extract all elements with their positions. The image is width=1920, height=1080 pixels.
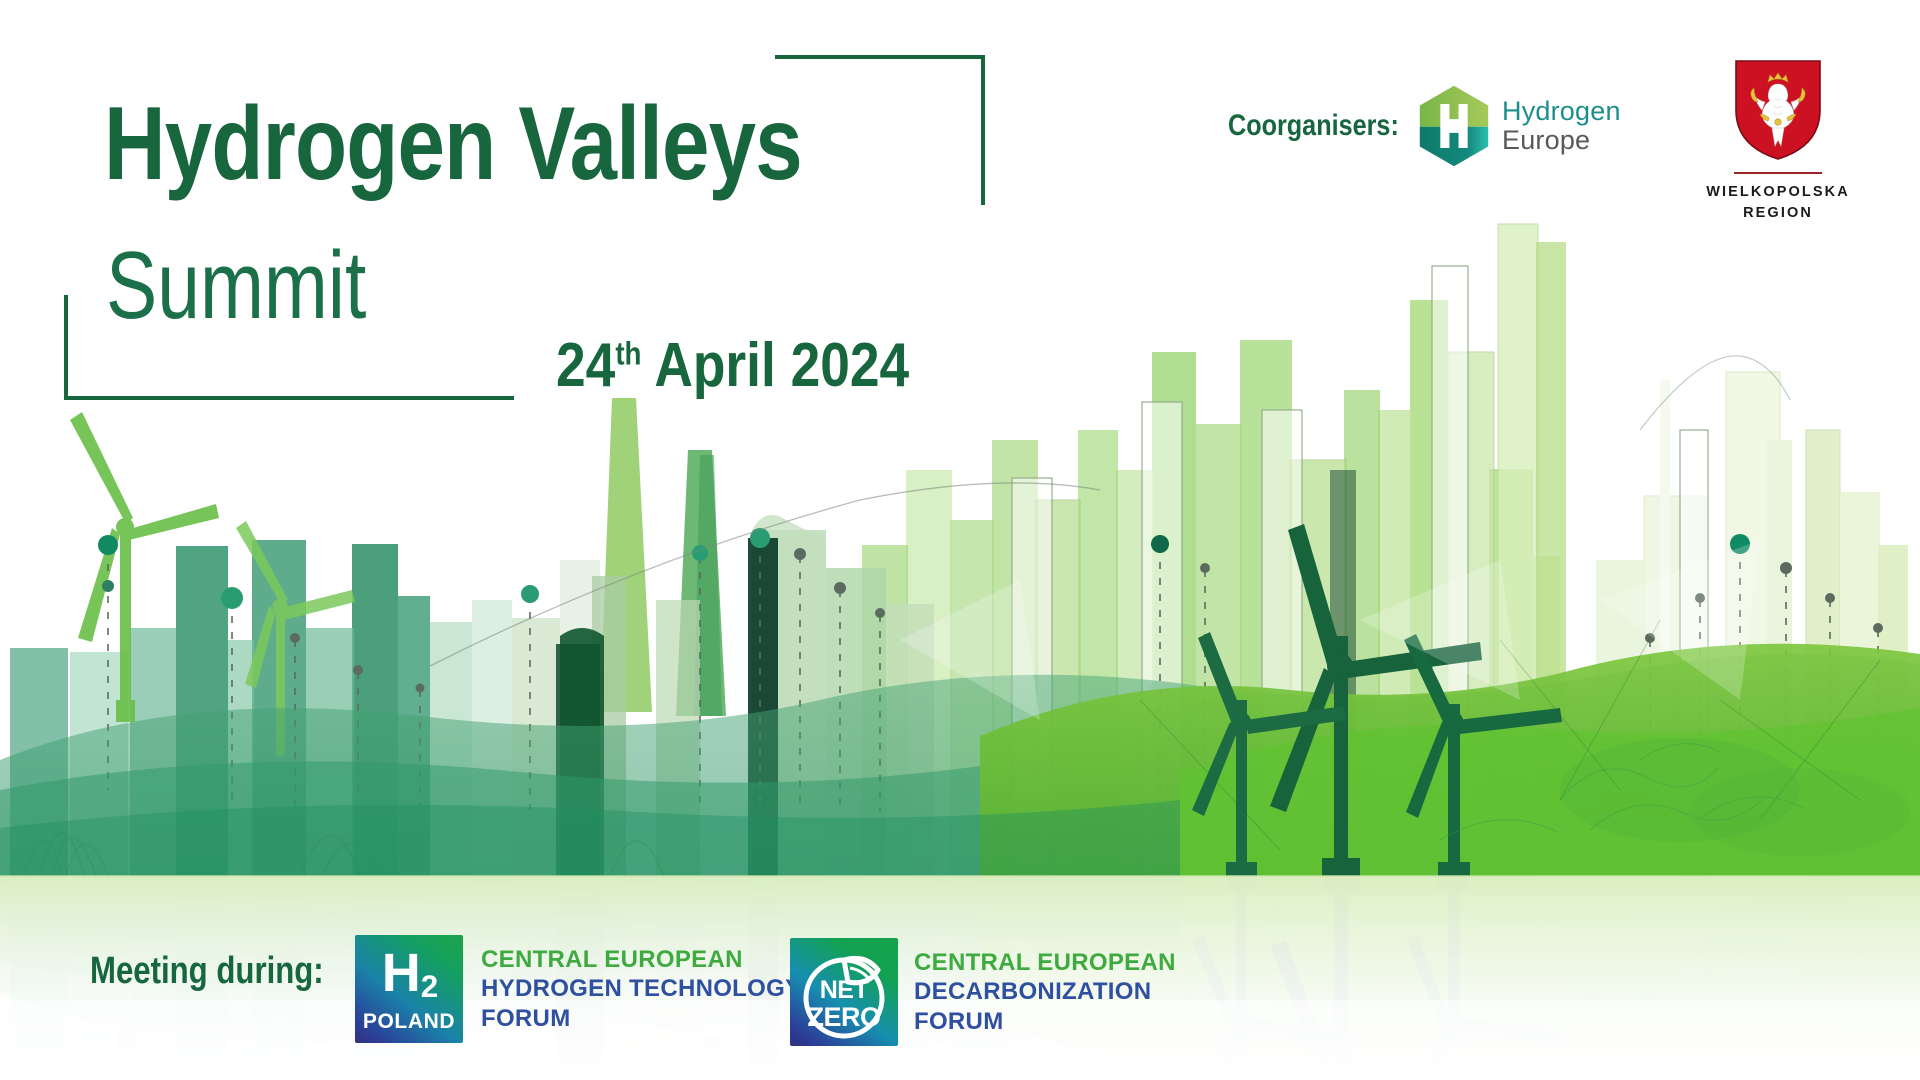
hexagon-h-icon [1416, 84, 1492, 168]
h2-subscript: 2 [421, 969, 437, 1004]
event-date-rest: April 2024 [641, 331, 909, 400]
net-zero-name-line2: DECARBONIZATION [914, 977, 1176, 1007]
h2-poland-mark-text: H2 [355, 949, 463, 999]
wielkopolska-line1: WIELKOPOLSKA [1688, 182, 1868, 203]
h2-poland-country: POLAND [355, 1010, 463, 1034]
h2-poland-line1: CENTRAL EUROPEAN [481, 945, 801, 975]
page-subtitle: Summit [106, 238, 366, 334]
h2-poland-icon: H2 POLAND [355, 935, 463, 1043]
net-zero-line2: ZERO [790, 1004, 898, 1032]
h2-poland-line2: HYDROGEN TECHNOLOGY [481, 974, 801, 1004]
page-title: Hydrogen Valleys [104, 92, 802, 196]
headline-block: Hydrogen Valleys Summit 24th April 2024 [0, 0, 1060, 430]
net-zero-mark-text: NET ZERO [790, 978, 898, 1031]
partner-logo-h2-poland[interactable]: H2 POLAND CENTRAL EUROPEAN HYDROGEN TECH… [355, 935, 801, 1043]
net-zero-line1: NET [790, 978, 898, 1004]
net-zero-icon: NET ZERO [790, 938, 898, 1046]
net-zero-name: CENTRAL EUROPEAN DECARBONIZATION FORUM [914, 948, 1176, 1037]
wielkopolska-line2: REGION [1688, 203, 1868, 224]
h2-poland-name: CENTRAL EUROPEAN HYDROGEN TECHNOLOGY FOR… [481, 945, 801, 1034]
meeting-during-block: Meeting during: [90, 950, 370, 993]
hydrogen-europe-logo[interactable]: Hydrogen Europe [1416, 84, 1621, 168]
h2-poland-line3: FORUM [481, 1004, 801, 1034]
hydrogen-europe-name: Hydrogen Europe [1502, 97, 1621, 154]
net-zero-name-line1: CENTRAL EUROPEAN [914, 948, 1176, 978]
partner-logo-net-zero[interactable]: NET ZERO CENTRAL EUROPEAN DECARBONIZATIO… [790, 938, 1176, 1046]
wielkopolska-divider [1734, 172, 1822, 174]
wielkopolska-coat-of-arms-icon [1732, 58, 1824, 162]
event-date: 24th April 2024 [556, 335, 909, 397]
bracket-top-right [775, 55, 985, 205]
wielkopolska-region-logo[interactable]: WIELKOPOLSKA REGION [1688, 58, 1868, 224]
meeting-during-label: Meeting during: [90, 950, 320, 993]
hydrogen-europe-line2: Europe [1502, 126, 1621, 155]
h2-letter: H [382, 943, 420, 1003]
event-date-ordinal: th [615, 335, 641, 371]
net-zero-name-line3: FORUM [914, 1007, 1176, 1037]
coorganisers-block: Coorganisers: [1228, 84, 1621, 168]
hydrogen-europe-line1: Hydrogen [1502, 97, 1621, 126]
poster-canvas: Hydrogen Valleys Summit 24th April 2024 … [0, 0, 1920, 1080]
event-date-day: 24 [556, 331, 615, 400]
coorganisers-label: Coorganisers: [1228, 109, 1396, 143]
